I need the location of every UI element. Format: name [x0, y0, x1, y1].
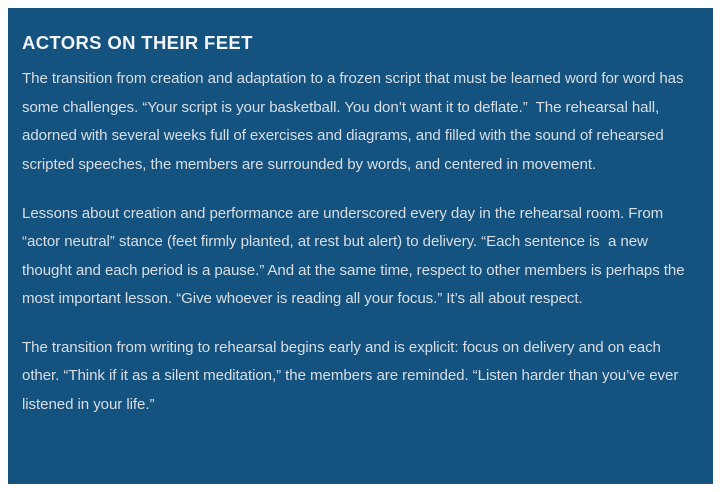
callout-card-content: ACTORS ON THEIR FEET The transition from…: [22, 31, 698, 420]
body-paragraph-1: The transition from creation and adaptat…: [22, 65, 698, 179]
callout-card: ACTORS ON THEIR FEET The transition from…: [8, 8, 713, 484]
page-title: ACTORS ON THEIR FEET: [22, 31, 698, 54]
body-paragraph-2: Lessons about creation and performance a…: [22, 200, 698, 314]
body-paragraph-3: The transition from writing to rehearsal…: [22, 334, 698, 420]
